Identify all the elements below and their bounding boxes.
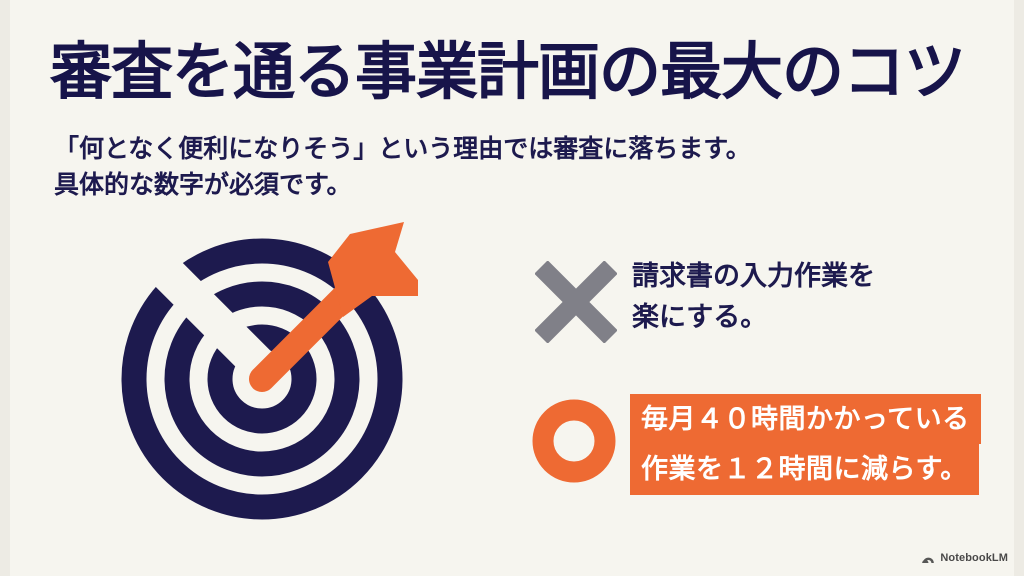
slide-right-edge xyxy=(1014,0,1024,576)
row-good-text: 毎月４０時間かかっている 作業を１２時間に減らす。 xyxy=(630,394,981,495)
watermark: NotebookLM xyxy=(922,552,1008,564)
slide-title: 審査を通る事業計画の最大のコツ xyxy=(50,40,980,107)
row-good-example: 毎月４０時間かかっている 作業を１２時間に減らす。 xyxy=(518,394,981,495)
cross-mark-slot xyxy=(520,250,632,354)
row-bad-text: 請求書の入力作業を 楽にする。 xyxy=(632,250,875,338)
row-good-line-1: 毎月４０時間かかっている xyxy=(630,394,981,444)
row-bad-example: 請求書の入力作業を 楽にする。 xyxy=(520,250,875,354)
subtitle-line-1: 「何となく便利になりそう」という理由では審査に落ちます。 xyxy=(54,131,914,167)
slide-left-edge xyxy=(0,0,10,576)
circle-icon xyxy=(532,399,616,483)
circle-mark-slot xyxy=(518,394,630,488)
watermark-label: NotebookLM xyxy=(940,552,1008,564)
cross-icon xyxy=(535,261,617,343)
target-illustration xyxy=(112,218,418,524)
subtitle-line-2: 具体的な数字が必須です。 xyxy=(54,167,914,203)
slide-subtitle: 「何となく便利になりそう」という理由では審査に落ちます。 具体的な数字が必須です… xyxy=(54,131,914,204)
slide-canvas: 審査を通る事業計画の最大のコツ 「何となく便利になりそう」という理由では審査に落… xyxy=(0,0,1024,576)
row-bad-line-2: 楽にする。 xyxy=(632,297,875,338)
row-good-line-2: 作業を１２時間に減らす。 xyxy=(630,444,979,494)
notebooklm-logo-icon xyxy=(922,553,935,564)
row-bad-line-1: 請求書の入力作業を xyxy=(632,256,875,297)
